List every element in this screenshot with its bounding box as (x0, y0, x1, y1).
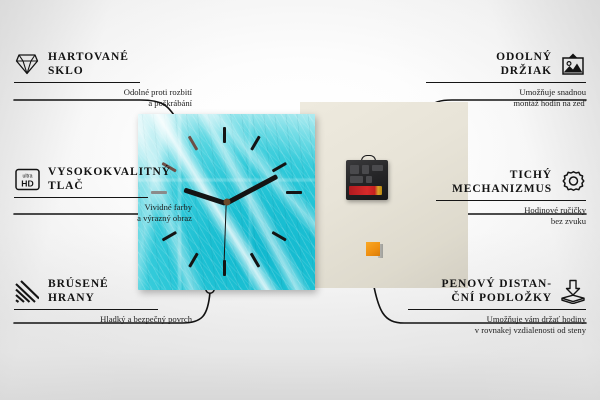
feature-hd-print: ultra HD VYSOKOKVALITNÝ TLAČ Vividné far… (14, 165, 192, 224)
feature-divider (14, 82, 140, 83)
clock-tick (223, 127, 226, 143)
diagonal-lines-icon (14, 278, 40, 304)
clock-hand-cap (223, 199, 230, 206)
svg-text:HD: HD (21, 178, 33, 188)
feature-header: ultra HD VYSOKOKVALITNÝ TLAČ (14, 165, 192, 193)
clock-tick (286, 191, 302, 194)
feature-header: HARTOVANÉ SKLO (14, 50, 192, 78)
foam-pad-top (366, 242, 380, 256)
feature-silent-mechanism: TICHÝ MECHANIZMUS Hodinové ručičky bez z… (408, 168, 586, 227)
feature-description: Umožňuje vám držať hodiny v rovnakej vzd… (408, 314, 586, 336)
feature-divider (426, 82, 586, 83)
feature-header: BRÚSENÉ HRANY (14, 277, 192, 305)
foam-spacer-pad (366, 242, 383, 258)
feature-tempered-glass: HARTOVANÉ SKLO Odolné proti rozbití a po… (14, 50, 192, 109)
feature-title: HARTOVANÉ SKLO (48, 50, 129, 78)
ultra-hd-badge-icon: ultra HD (14, 166, 40, 192)
feature-ground-edges: BRÚSENÉ HRANY Hladký a bezpečný povrch (14, 277, 192, 325)
diamond-icon (14, 51, 40, 77)
feature-title: BRÚSENÉ HRANY (48, 277, 109, 305)
feature-title: ODOLNÝ DRŽIAK (496, 50, 552, 78)
feature-description: Hodinové ručičky bez zvuku (408, 205, 586, 227)
mechanism-body (346, 160, 388, 200)
feature-durable-holder: ODOLNÝ DRŽIAK Umožňuje snadnou montáž ho… (408, 50, 586, 109)
feature-title: TICHÝ MECHANIZMUS (452, 168, 552, 196)
clock-movement-mechanism (346, 160, 388, 200)
feature-title: VYSOKOKVALITNÝ TLAČ (48, 165, 171, 193)
mechanism-battery (349, 186, 382, 195)
feature-header: TICHÝ MECHANIZMUS (408, 168, 586, 196)
gear-icon (560, 169, 586, 195)
feature-description: Umožňuje snadnou montáž hodin na zeď (408, 87, 586, 109)
mechanism-detail (372, 165, 383, 171)
product-infographic: HARTOVANÉ SKLO Odolné proti rozbití a po… (0, 0, 600, 400)
feature-foam-spacers: PENOVÝ DISTAN- ČNÍ PODLOŽKY Umožňuje vám… (408, 277, 586, 336)
feature-description: Hladký a bezpečný povrch (14, 314, 192, 325)
mechanism-detail (366, 176, 372, 183)
feature-divider (408, 309, 586, 310)
feature-title: PENOVÝ DISTAN- ČNÍ PODLOŽKY (442, 277, 552, 305)
picture-hanger-icon (560, 51, 586, 77)
mechanism-detail (350, 165, 359, 174)
feature-divider (14, 197, 148, 198)
mechanism-detail (350, 176, 363, 183)
mechanism-detail (362, 165, 369, 174)
feature-divider (14, 309, 158, 310)
feature-description: Odolné proti rozbití a poškrábání (14, 87, 192, 109)
feature-header: ODOLNÝ DRŽIAK (408, 50, 586, 78)
feature-divider (436, 200, 586, 201)
feature-description: Vividné farby a výrazný obraz (14, 202, 192, 224)
arrow-onto-pad-icon (560, 278, 586, 304)
feature-header: PENOVÝ DISTAN- ČNÍ PODLOŽKY (408, 277, 586, 305)
